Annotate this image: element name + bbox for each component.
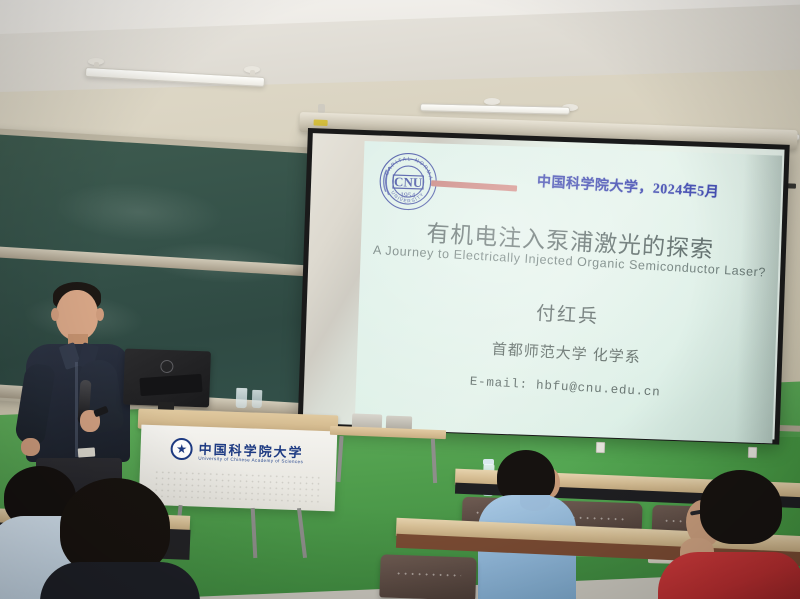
water-glass [236, 388, 248, 408]
name-badge [78, 447, 96, 457]
ucas-logo-icon [170, 438, 193, 461]
slide-accent-bar [431, 180, 517, 191]
lecture-chair [379, 554, 476, 599]
podium-front-panel: 中国科学院大学 University of Chinese Academy of… [139, 425, 338, 512]
chair-perforations [570, 514, 629, 522]
svg-text:CNU: CNU [394, 174, 423, 190]
slide-affiliation: 首都师范大学 化学系 [357, 330, 776, 375]
podium-perforated-panel [153, 469, 322, 503]
lecture-hall-scene: CNU 1954 CAPITAL NORMAL UNIVERSITY 中国科学院… [0, 0, 800, 599]
projector-screen: CNU 1954 CAPITAL NORMAL UNIVERSITY 中国科学院… [298, 128, 790, 445]
chair-perforations [395, 569, 460, 578]
audience-head-red-shirt [700, 470, 782, 544]
chalk-smudge [54, 178, 224, 246]
dell-logo-icon [160, 360, 173, 373]
slide-author-name: 付红兵 [358, 288, 777, 339]
wall-outlet-icon [748, 447, 757, 458]
audience-body-red-shirt [658, 552, 800, 599]
housing-label-tag [314, 120, 328, 127]
water-glass [252, 390, 263, 408]
presenter-head [56, 290, 98, 340]
presenter-ear [51, 308, 59, 321]
presenter-left-hand [21, 438, 40, 456]
slide-email: E-mail: hbfu@cnu.edu.cn [356, 368, 774, 406]
foreground-audience-body-dark [40, 562, 200, 599]
sprinkler-head-icon [318, 104, 325, 113]
projector-screen-surface: CNU 1954 CAPITAL NORMAL UNIVERSITY 中国科学院… [303, 133, 785, 439]
audience-collar [520, 495, 550, 511]
slide-header-date: 中国科学院大学，2024年5月 [513, 169, 744, 203]
projected-slide: CNU 1954 CAPITAL NORMAL UNIVERSITY 中国科学院… [355, 141, 783, 443]
presenter-ear [96, 308, 104, 321]
wall-outlet-icon [596, 442, 605, 453]
svg-text:1954: 1954 [400, 190, 416, 200]
